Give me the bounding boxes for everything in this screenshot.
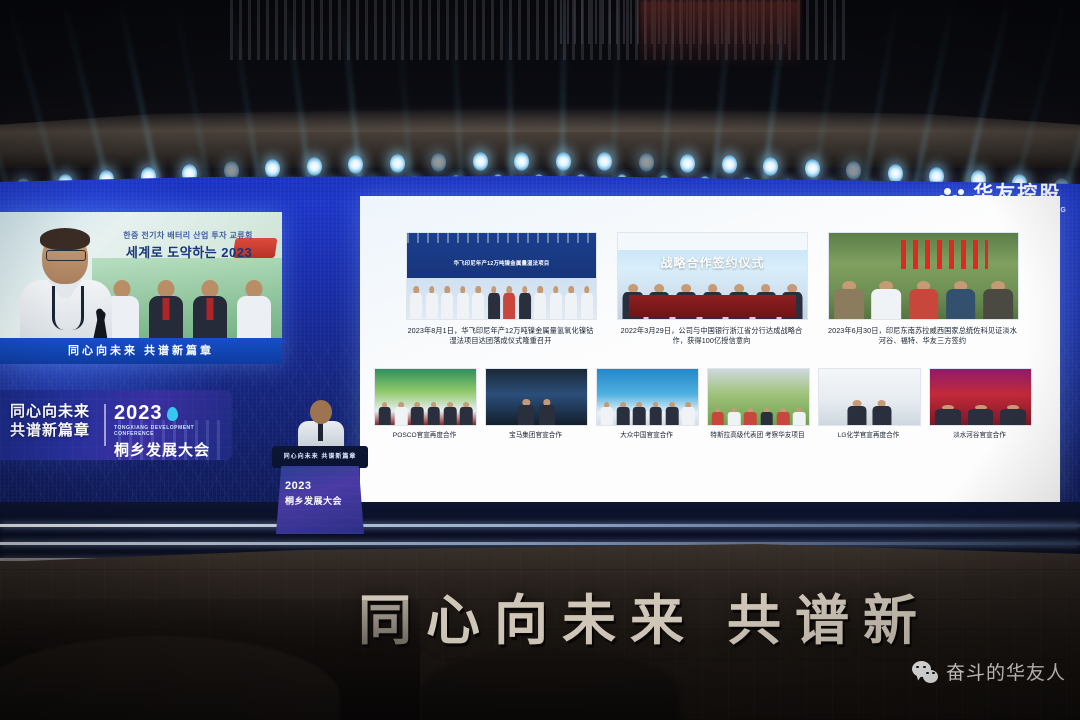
person [487, 286, 502, 319]
main-presentation-slide: 华飞印尼年产12万吨镍金属量湿法项目 [360, 196, 1060, 502]
person [377, 402, 392, 425]
person [664, 402, 679, 425]
slide-thumb-caption: 淡水河谷官宣合作 [929, 431, 1030, 440]
stage-lamp [639, 153, 654, 172]
person [775, 408, 790, 425]
slide-card: 2023年6月30日，印尼东南苏拉威西国家总统佐科见证淡水河谷、福特、华友三方签… [828, 232, 1017, 346]
slide-thumb-caption: 大众中国官宣合作 [596, 431, 697, 440]
board-slogan: 同心向未来 共谱新篇章 [10, 402, 90, 440]
person [905, 281, 941, 319]
person [726, 408, 741, 425]
person [533, 286, 548, 319]
person [792, 408, 807, 425]
person [549, 286, 564, 319]
person [517, 399, 536, 425]
stage-lamp [680, 154, 695, 173]
eyeglasses-icon [46, 250, 86, 261]
stage-lamp [307, 157, 322, 176]
seated-person [235, 276, 274, 338]
person [648, 402, 663, 425]
person [580, 286, 595, 319]
person [518, 286, 533, 319]
photo-banner-text: 华飞印尼年产12万吨镍金属量湿法项目 [407, 259, 596, 267]
slide-photo-tesla-delegation-site-model [707, 368, 810, 426]
slide-thumb-card: 大众中国官宣合作 [596, 368, 697, 440]
slide-photo-outdoor-press-indonesia-flags [828, 232, 1019, 320]
water-drop-icon [167, 407, 178, 421]
stage-lamp [846, 161, 861, 180]
wechat-account-name: 奋斗的华友人 [946, 658, 1066, 685]
slide-thumb-card: 特斯拉高级代表团 考察华友项目 [707, 368, 808, 440]
stage-lamp [390, 154, 405, 173]
person [442, 402, 457, 425]
slide-thumb-caption: LG化学官宣再度合作 [818, 431, 919, 440]
event-banner-board: 同心向未来 共谱新篇章 2023 TONGXIANG DEVELOPMENT C… [0, 390, 232, 460]
person [564, 286, 579, 319]
podium-body: 2023 桐乡发展大会 [276, 466, 364, 534]
person [710, 408, 725, 425]
wechat-watermark: 奋斗的华友人 [912, 658, 1066, 685]
slide-thumb-card: POSCO官宣再度合作 [374, 368, 475, 440]
stage-lamp [805, 159, 820, 178]
stage-lamp [431, 153, 446, 172]
stage-lamp [763, 157, 778, 176]
stage-lamp [348, 155, 363, 174]
podium-speaker [298, 400, 344, 450]
stage-lamp [888, 164, 903, 183]
foreground-headline: 同心向未来 共谱新 [358, 576, 931, 655]
seated-person [191, 276, 230, 338]
podium-year: 2023 [285, 480, 311, 492]
person [932, 405, 964, 425]
person [440, 286, 455, 319]
podium-event-name: 桐乡发展大会 [285, 494, 342, 507]
person [425, 286, 440, 319]
conference-stage-photo: 华友控股 HUAYOU HOLDING 한중 전기차 배터리 산업 투자 교류회… [0, 0, 1080, 720]
person [870, 400, 893, 425]
slide-thumb-card: 宝马集团官宣合作 [485, 368, 586, 440]
stage-lamp [597, 152, 612, 171]
person [502, 286, 517, 319]
person [743, 408, 758, 425]
photo-banner-text: 战略合作签约仪式 [618, 254, 807, 271]
slide-thumb-card: LG化学官宣再度合作 [818, 368, 919, 440]
seated-person [146, 276, 185, 338]
board-slogan-line2: 共谱新篇章 [10, 422, 90, 439]
slide-photo-bmw-handshake [485, 368, 588, 426]
slide-caption: 2022年3月29日，公司与中国银行浙江省分行达成战略合作，获得100亿授信意向 [617, 326, 806, 346]
person [599, 402, 614, 425]
board-divider [104, 404, 106, 446]
board-event-name: 桐乡发展大会 [114, 439, 232, 460]
person [846, 400, 869, 425]
stage-lamp [556, 152, 571, 171]
person [965, 405, 997, 425]
slide-caption: 2023年6月30日，印尼东南苏拉威西国家总统佐科见证淡水河谷、福特、华友三方签… [828, 326, 1017, 346]
person [459, 402, 474, 425]
person [632, 402, 647, 425]
person [471, 286, 486, 319]
person [409, 286, 424, 319]
screen-overlay-subtitle: 한중 전기차 배터리 산업 투자 교류회 [98, 230, 278, 241]
person [681, 402, 696, 425]
board-event-title: 2023 TONGXIANG DEVELOPMENT CONFERENCE 桐乡… [114, 402, 232, 460]
slide-photo-signing-ceremony-red-table: 战略合作签约仪式 [617, 232, 808, 320]
person [615, 402, 630, 425]
slide-photo-lg-chem-signing [818, 368, 921, 426]
speaker-podium: 同心向未来 共谱新篇章 2023 桐乡发展大会 [272, 408, 368, 534]
person [759, 408, 774, 425]
left-projection-screen: 한중 전기차 배터리 산업 투자 교류회 세계로 도약하는 2023 同心向未来… [0, 212, 282, 364]
slide-top-row: 华飞印尼年产12万吨镍金属量湿法项目 [406, 232, 1018, 346]
stage-led-strip [0, 542, 1080, 545]
slide-photo-vw-china-signing [596, 368, 699, 426]
stage-lamp [514, 152, 529, 171]
slide-thumb-caption: 特斯拉高级代表团 考察华友项目 [707, 431, 808, 440]
person [456, 286, 471, 319]
person [943, 281, 979, 319]
person [980, 281, 1016, 319]
wechat-icon [912, 661, 938, 683]
person [868, 281, 904, 319]
slide-photo-posco-signing [374, 368, 477, 426]
stage-lamp [473, 152, 488, 171]
person [393, 402, 408, 425]
slide-card: 华飞印尼年产12万吨镍金属量湿法项目 [406, 232, 595, 346]
podium-top-banner-text: 同心向未来 共谱新篇章 [272, 446, 368, 468]
slide-caption: 2023年8月1日，华飞印尼年产12万吨镍金属量氢氧化镍钴湿法项目达团落成仪式隆… [406, 326, 595, 346]
slide-photo-vale-signing-red-stage [929, 368, 1032, 426]
board-tiny-en: TONGXIANG DEVELOPMENT CONFERENCE [114, 425, 232, 437]
screen-overlay-title: 세계로 도약하는 2023 [96, 242, 282, 261]
person [997, 405, 1029, 425]
board-slogan-line1: 同心向未来 [10, 403, 90, 420]
slide-thumb-caption: POSCO官宣再度合作 [374, 431, 475, 440]
screen-lower-third: 同心向未来 共谱新篇章 [0, 338, 282, 364]
slide-thumb-card: 淡水河谷官宣合作 [929, 368, 1030, 440]
slide-bottom-row: POSCO官宣再度合作 宝马集团官宣合作 [374, 368, 1046, 440]
person [410, 402, 425, 425]
slide-card: 战略合作签约仪式 2022年3月29日，公司与中国银行浙江省分行达成战略合作，获… [617, 232, 806, 346]
slide-photo-group-photo-ceremony-blue-backdrop: 华飞印尼年产12万吨镍金属量湿法项目 [406, 232, 597, 320]
signing-table [629, 295, 795, 317]
board-year: 2023 [114, 402, 163, 425]
screen-lower-third-text: 同心向未来 共谱新篇章 [0, 338, 282, 364]
person [831, 281, 867, 319]
slide-thumb-caption: 宝马集团官宣合作 [485, 431, 586, 440]
person [426, 402, 441, 425]
stage-lamp [265, 159, 280, 178]
stage-led-strip [0, 524, 1080, 527]
podium-top-banner: 同心向未来 共谱新篇章 [272, 446, 368, 468]
stage-lamp [722, 155, 737, 174]
person [537, 399, 556, 425]
